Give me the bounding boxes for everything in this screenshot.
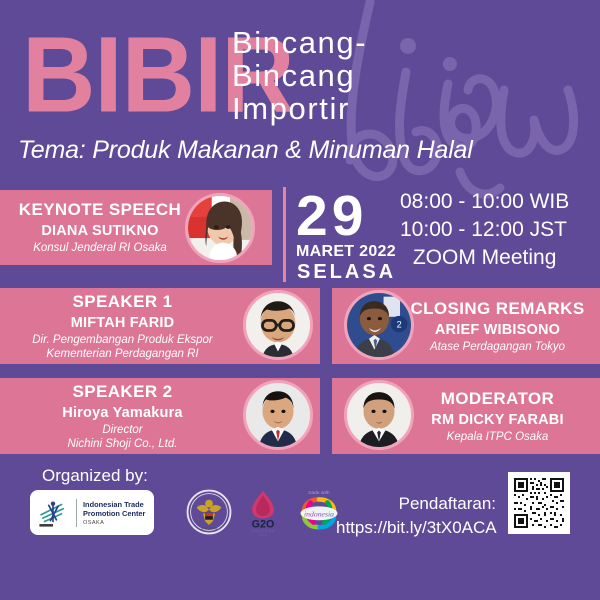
avatar-rm-dicky-farabi (344, 380, 414, 450)
date-day-number: 29 (296, 188, 367, 245)
headline-line-3: Importir (232, 92, 367, 125)
date-weekday: SELASA (297, 261, 396, 284)
closing-remarks-name: ARIEF WIBISONO (435, 322, 560, 338)
speaker1-name: MIFTAH FARID (71, 315, 175, 331)
organized-by-label: Organized by: (42, 466, 148, 486)
speaker1-subtitle-1: Dir. Pengembangan Produk Ekspor (32, 333, 212, 347)
g20-indonesia-2022-logo: G2O INDONESIA 2022 (240, 489, 286, 537)
itpc-logo-text: Indonesian Trade Promotion Center OSAKA (83, 500, 145, 526)
registration-url[interactable]: https://bit.ly/3tX0ACA (336, 516, 496, 540)
svg-text:Bhinneka: Bhinneka (201, 527, 218, 531)
speaker1-role: SPEAKER 1 (73, 292, 173, 312)
closing-remarks-subtitle-1: Atase Perdagangan Tokyo (430, 340, 565, 354)
moderator-role: MODERATOR (441, 389, 554, 409)
itpc-logo-divider (76, 499, 77, 527)
closing-remarks-role: CLOSING REMARKS (410, 299, 584, 319)
speaker2-subtitle-1: Director (102, 423, 142, 437)
avatar-diana-sutikno (185, 193, 255, 263)
avatar-miftah-farid (243, 290, 313, 360)
time-line-1: 08:00 - 10:00 WIB (400, 188, 569, 216)
itpc-bird-icon (36, 496, 70, 530)
itpc-logo-line2: Promotion Center (83, 509, 145, 518)
garuda-pancasila-emblem: Bhinneka (186, 489, 232, 535)
moderator-text-block: MODERATOR RM DICKY FARABI Kepala ITPC Os… (400, 378, 595, 454)
keynote-subtitle-1: Konsul Jenderal RI Osaka (33, 241, 167, 255)
avatar-hiroya-yamakura (243, 380, 313, 450)
time-line-2: 10:00 - 12:00 JST (400, 216, 569, 244)
poster-header: BIBIR Bincang- Bincang Importir Tema: Pr… (0, 0, 600, 185)
speaker1-text-block: SPEAKER 1 MIFTAH FARID Dir. Pengembangan… (0, 288, 245, 364)
event-headline: Bincang- Bincang Importir (232, 26, 367, 125)
registration-label: Pendaftaran: (336, 492, 496, 516)
moderator-subtitle-1: Kepala ITPC Osaka (447, 430, 549, 444)
date-month-year: MARET 2022 (296, 243, 396, 261)
trade-with-indonesia-top: trade with (308, 490, 330, 496)
poster-canvas: BIBIR Bincang- Bincang Importir Tema: Pr… (0, 0, 600, 600)
registration-qr-code[interactable] (508, 472, 570, 534)
avatar-arief-wibisono: 2 (344, 290, 414, 360)
headline-line-2: Bincang (232, 59, 367, 92)
poster-footer: itpc.osaka https://itpc.or.jp ITPC Osaka… (0, 552, 600, 600)
g20-logo-sub2: 2022 (259, 533, 268, 537)
moderator-name: RM DICKY FARABI (431, 412, 563, 428)
trade-with-indonesia-word: indonesia (304, 509, 334, 518)
date-divider (283, 187, 286, 282)
speaker2-text-block: SPEAKER 2 Hiroya Yamakura Director Nichi… (0, 378, 245, 454)
time-line-3: ZOOM Meeting (400, 244, 569, 272)
itpc-logo-line1: Indonesian Trade (83, 500, 145, 509)
event-time-info: 08:00 - 10:00 WIB 10:00 - 12:00 JST ZOOM… (400, 188, 569, 272)
headline-line-1: Bincang- (232, 26, 367, 59)
svg-text:2: 2 (397, 320, 402, 330)
speaker2-subtitle-2: Nichini Shoji Co., Ltd. (68, 437, 178, 451)
speaker2-name: Hiroya Yamakura (62, 405, 182, 421)
registration-block: Pendaftaran: https://bit.ly/3tX0ACA (336, 492, 496, 540)
keynote-text-block: KEYNOTE SPEECH DIANA SUTIKNO Konsul Jend… (0, 190, 200, 265)
itpc-logo: Indonesian Trade Promotion Center OSAKA (30, 490, 154, 535)
keynote-name: DIANA SUTIKNO (41, 223, 158, 239)
keynote-role: KEYNOTE SPEECH (19, 200, 181, 220)
speaker2-role: SPEAKER 2 (73, 382, 173, 402)
speaker1-subtitle-2: Kementerian Perdagangan RI (46, 347, 198, 361)
itpc-logo-city: OSAKA (83, 520, 145, 526)
event-theme: Tema: Produk Makanan & Minuman Halal (18, 136, 473, 165)
closing-remarks-text-block: CLOSING REMARKS ARIEF WIBISONO Atase Per… (400, 288, 595, 364)
